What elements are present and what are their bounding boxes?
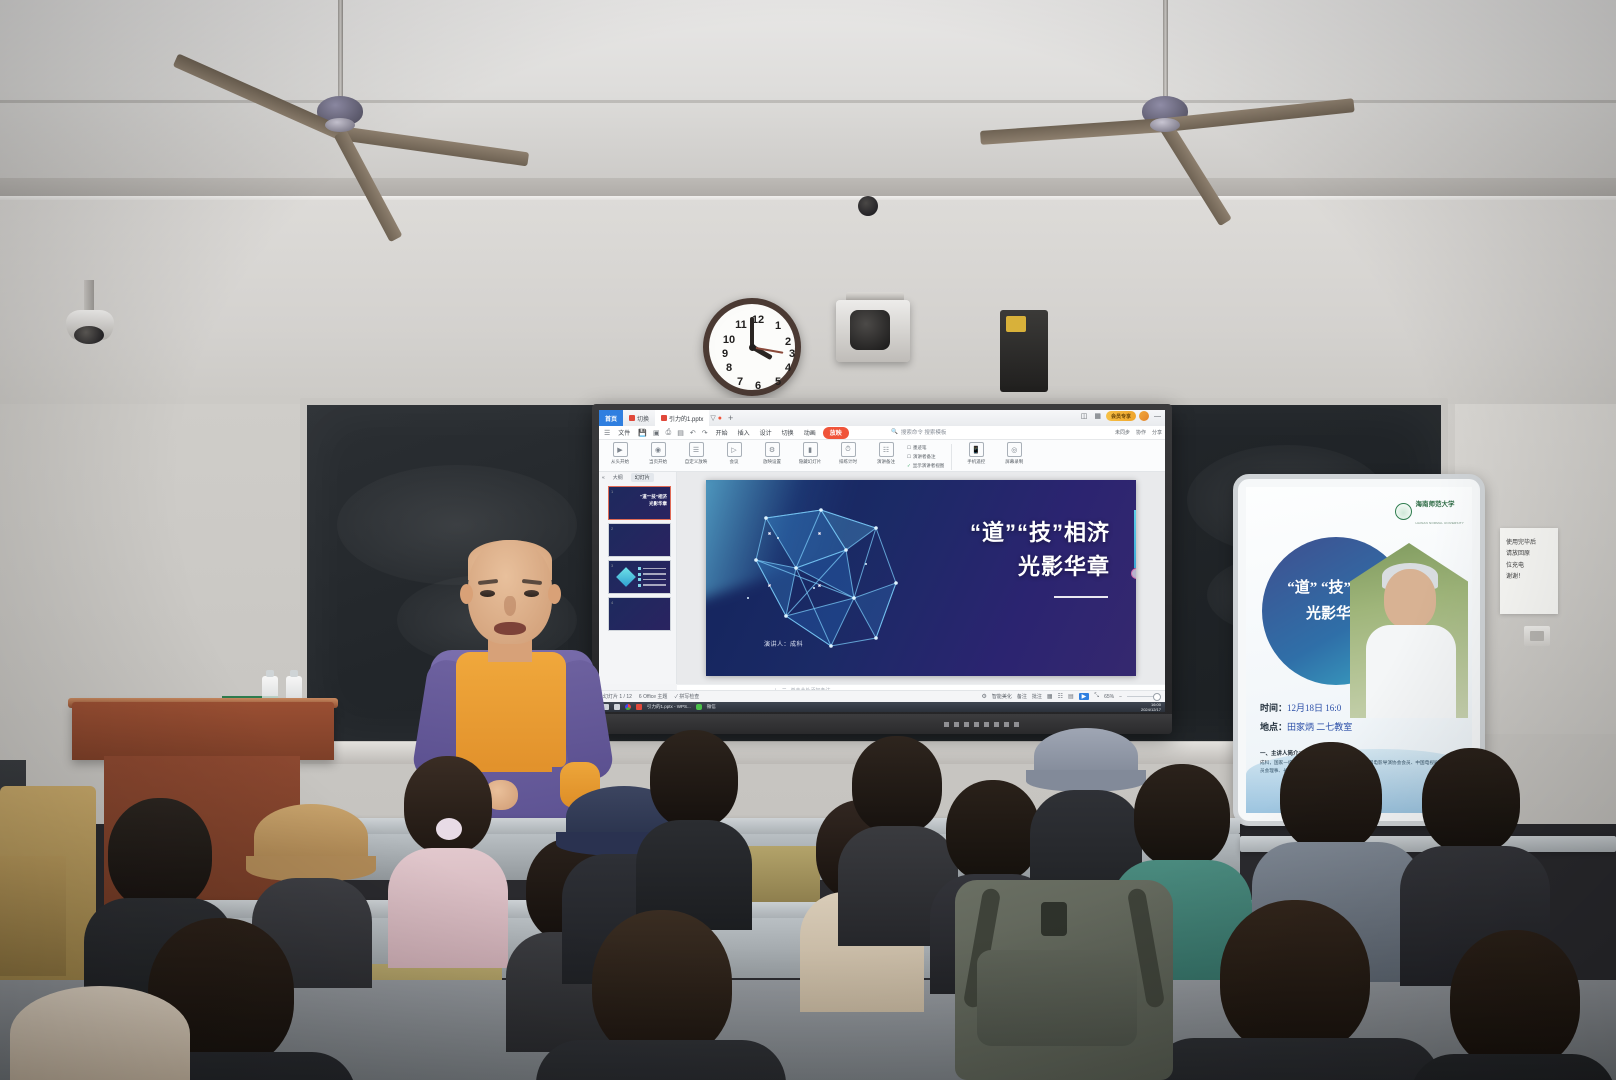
slide-accent-bar: [1134, 510, 1136, 568]
ribbon-check-label: 演讲者备注: [913, 454, 936, 460]
thumbnail-number: 2: [611, 526, 613, 531]
ceiling-fan-right: [1105, 0, 1225, 140]
ribbon-separator: [951, 444, 952, 470]
presenter-nose: [504, 596, 516, 616]
clock-center-pin: [749, 344, 756, 351]
rail-tab-outline[interactable]: 大纲: [609, 473, 627, 482]
notice-line: 谢谢！: [1506, 572, 1553, 583]
collaborate-button[interactable]: 协作: [1136, 429, 1146, 436]
tab-home-label: 首页: [605, 414, 617, 423]
screen-record-icon: ◎: [1007, 442, 1022, 457]
ribbon-label: 放映设置: [763, 459, 781, 465]
thumbnail-title: “道”“技”相济 光影华章: [640, 494, 667, 508]
interactive-display-panel[interactable]: 首页 切换 引力的1.pptx ▽ ● + ◫ ▦ 会员专享: [592, 404, 1172, 734]
ceiling-fan-left: [280, 0, 400, 140]
ribbon-checkboxes[interactable]: ☐ 墨迹笔 ☐ 演讲者备注 ✓ 显示演讲者视图: [907, 442, 944, 469]
presenter-mouth: [494, 622, 526, 635]
spellcheck-text: 拼写检查: [679, 694, 699, 700]
tab-home[interactable]: 首页: [599, 410, 623, 426]
checkbox-checked-icon: ✓: [907, 463, 911, 469]
rail-header[interactable]: « 大纲 幻灯片: [599, 472, 676, 483]
audience-head: [1280, 742, 1382, 852]
audience-member: [1410, 930, 1616, 1080]
audience-member: [0, 980, 220, 1080]
projector-icon: [836, 300, 910, 362]
hamburger-icon[interactable]: ☰: [603, 429, 611, 437]
poster-place-value: 田家炳 二七教室: [1287, 722, 1352, 732]
notice-line: 位充电: [1506, 561, 1553, 572]
screen[interactable]: 首页 切换 引力的1.pptx ▽ ● + ◫ ▦ 会员专享: [599, 410, 1165, 712]
current-slide[interactable]: “道”“技”相济 光影华章 演讲人：成科: [706, 480, 1136, 676]
slide-title-line1: “道”“技”相济: [970, 520, 1110, 545]
selection-handle[interactable]: [768, 584, 771, 587]
ai-beautify-label[interactable]: 智能美化: [992, 693, 1012, 700]
taskbar-date: 2024/12/17: [1141, 707, 1161, 712]
thumbnail-slide-1[interactable]: 1 “道”“技”相济 光影华章: [608, 486, 671, 520]
audience-head: [852, 736, 942, 834]
custom-show-icon: ☰: [689, 442, 704, 457]
ribbon-label: 屏幕录制: [1005, 459, 1023, 465]
lectern: [72, 702, 334, 760]
clock-numeral: 10: [722, 334, 736, 346]
sync-status[interactable]: 未同步: [1115, 429, 1130, 436]
wps-ribbon[interactable]: ▶ 从头开始 ◉ 当页开始 ☰ 自定义放映 ▷ 会议 ⚙ 放映设置: [599, 440, 1165, 472]
status-bar[interactable]: 幻灯片 1 / 12 6 Office 主题 ✓ 拼写检查 ⚙ 智能美化 备注 …: [599, 690, 1165, 702]
audience-body: [536, 1040, 786, 1080]
upper-wall: [0, 200, 1616, 410]
taskbar-wechat-label[interactable]: 微信: [707, 704, 716, 710]
ribbon-screen-record[interactable]: ◎ 屏幕录制: [997, 442, 1031, 465]
menu-animation[interactable]: 动画: [801, 428, 819, 437]
bucket-hat: [10, 986, 190, 1080]
ribbon-label: 排练计时: [839, 459, 857, 465]
normal-view-icon[interactable]: ▦: [1047, 693, 1053, 700]
slide-title-underline: [1054, 596, 1108, 598]
checkbox-icon: ☐: [907, 445, 911, 451]
clock-face: 12 1 2 3 4 5 6 7 8 9 10 11: [715, 310, 789, 384]
clock-numeral: 8: [722, 362, 736, 374]
vip-badge[interactable]: 会员专享: [1106, 411, 1136, 421]
sorter-view-icon[interactable]: ☷: [1058, 693, 1063, 700]
selection-handle[interactable]: [818, 532, 821, 535]
ribbon-label: 手机遥控: [967, 459, 985, 465]
minimize-button[interactable]: —: [1152, 413, 1163, 420]
menu-file[interactable]: 文件: [615, 428, 633, 437]
audience-head: [1220, 900, 1370, 1056]
zoom-out-button[interactable]: −: [1119, 694, 1122, 700]
wall-notice: 使用完毕后 请放回原 位充电 谢谢！: [1500, 528, 1558, 614]
audience-member: [386, 756, 510, 906]
audience-head: [650, 730, 738, 828]
portrait-head: [1384, 569, 1436, 629]
rail-tab-slides[interactable]: 幻灯片: [631, 473, 654, 482]
wall-clock: 12 1 2 3 4 5 6 7 8 9 10 11: [703, 298, 801, 396]
fan-hub: [325, 118, 355, 132]
ribbon-check-presenter-view[interactable]: ✓ 显示演讲者视图: [907, 463, 944, 469]
ribbon-play-from-start[interactable]: ▶ 从头开始: [603, 442, 637, 465]
fan-rod: [338, 0, 343, 100]
ribbon-label: 当页开始: [649, 459, 667, 465]
reading-view-icon[interactable]: ▤: [1068, 693, 1074, 700]
fit-slide-icon[interactable]: ⤡: [1094, 693, 1099, 700]
backpack: [955, 880, 1173, 1080]
clock-numeral: 9: [718, 348, 732, 360]
audience-head: [1422, 748, 1520, 854]
tab-document-1[interactable]: 切换: [623, 410, 655, 426]
university-name: 海南师范大学: [1415, 501, 1454, 508]
chrome-icon[interactable]: [625, 704, 631, 710]
taskbar-clock[interactable]: 16:00 2024/12/17: [1141, 702, 1161, 712]
university-name-en: HAINAN NORMAL UNIVERSITY: [1415, 521, 1464, 525]
network-polygon-graphic: [726, 498, 936, 663]
backpack-logo-patch: [1041, 902, 1067, 936]
theme-label[interactable]: 6 Office 主题: [639, 693, 668, 700]
undo-icon[interactable]: ↶: [689, 429, 697, 437]
portrait-body: [1366, 625, 1456, 718]
search-input[interactable]: 🔍 搜索命令 搜索模板: [891, 428, 946, 436]
audience-body: [1150, 1038, 1440, 1080]
poster-time-label: 时间：: [1260, 703, 1287, 713]
notes-icon: ☷: [879, 442, 894, 457]
redo-icon[interactable]: ↷: [701, 429, 709, 437]
university-logo-mark: [1395, 503, 1412, 520]
ceiling-microphone-icon: [858, 196, 878, 216]
poster-time-value: 12月18日 16:0: [1287, 703, 1341, 713]
clock-body: 12 1 2 3 4 5 6 7 8 9 10 11: [703, 298, 801, 396]
menu-design[interactable]: 设计: [757, 428, 775, 437]
audience-body: [1410, 1054, 1616, 1080]
presenter-ear: [460, 584, 473, 604]
selection-handle[interactable]: [768, 532, 771, 535]
university-logo: 海南师范大学 HAINAN NORMAL UNIVERSITY: [1395, 493, 1464, 529]
ceiling-seam: [0, 100, 1616, 103]
thumbnail-title-line1: “道”“技”相济: [640, 494, 667, 499]
ai-beautify-icon[interactable]: ⚙: [981, 693, 986, 700]
tab-document-1-label: 切换: [637, 414, 649, 423]
slide-editing-area[interactable]: “道”“技”相济 光影华章 演讲人：成科: [677, 472, 1165, 684]
clock-numeral: 6: [751, 380, 765, 392]
clock-numeral: 5: [771, 376, 785, 388]
wps-icon[interactable]: [636, 704, 642, 710]
camera-mount: [84, 280, 94, 314]
print-icon[interactable]: ⎙: [665, 429, 673, 437]
slide-presenter-label[interactable]: 演讲人：成科: [764, 639, 803, 648]
search-placeholder: 搜索命令 搜索模板: [901, 428, 947, 436]
menu-transition[interactable]: 切换: [779, 428, 797, 437]
clock-numeral: 11: [734, 319, 748, 331]
phone-remote-icon: 📱: [969, 442, 984, 457]
audience-head: [108, 798, 212, 910]
slideshow-icon[interactable]: ▶: [1079, 693, 1090, 700]
windows-taskbar[interactable]: 引力的1.pptx - WPS... 微信 16:00 2024/12/17: [599, 702, 1165, 712]
save-icon[interactable]: 💾: [637, 429, 648, 437]
poster-event-details: 时间：12月18日 16:0 地点：田家炳 二七教室: [1260, 699, 1352, 737]
security-camera-icon: [66, 310, 114, 340]
menu-slideshow-active[interactable]: 放映: [823, 427, 849, 439]
audience-member: [1150, 900, 1440, 1080]
window-controls[interactable]: ◫ ▦ 会员专享 —: [1079, 411, 1163, 421]
tab-document-active-label: 引力的1.pptx: [669, 414, 703, 423]
avatar[interactable]: [1139, 411, 1149, 421]
comments-toggle[interactable]: 批注: [1032, 693, 1042, 700]
hair-tie: [436, 818, 462, 840]
presenter-eye: [524, 590, 539, 597]
ribbon-label: 演讲备注: [877, 459, 895, 465]
audience-head: [592, 910, 732, 1060]
ribbon-show-settings[interactable]: ⚙ 放映设置: [755, 442, 789, 465]
spellcheck-label[interactable]: ✓ 拼写检查: [674, 693, 699, 700]
audience-member: [536, 910, 786, 1080]
wps-tab-bar[interactable]: 首页 切换 引力的1.pptx ▽ ● + ◫ ▦ 会员专享: [599, 410, 1165, 426]
presenter-shirt: [456, 652, 566, 767]
taskbar-wps-label[interactable]: 引力的1.pptx - WPS...: [647, 704, 691, 710]
ribbon-hide-slide[interactable]: ▮ 隐藏幻灯片: [793, 442, 827, 465]
rehearse-icon: ⏱: [841, 442, 856, 457]
poster-place-label: 地点：: [1260, 722, 1287, 732]
ribbon-play-current[interactable]: ◉ 当页开始: [641, 442, 675, 465]
tab-cloud-icon[interactable]: ▽: [709, 414, 716, 422]
clock-numeral: 2: [781, 336, 795, 348]
thumbnail-number: 1: [611, 489, 613, 494]
presenter-ear: [548, 584, 561, 604]
apps-grid-icon[interactable]: ▦: [1092, 412, 1103, 420]
ribbon-phone-remote[interactable]: 📱 手机遥控: [959, 442, 993, 465]
hide-slide-icon: ▮: [803, 442, 818, 457]
ribbon-label: 从头开始: [611, 459, 629, 465]
backpack-pocket: [977, 950, 1137, 1046]
zoom-slider[interactable]: [1127, 696, 1161, 698]
slide-title[interactable]: “道”“技”相济 光影华章: [970, 516, 1110, 584]
slide-title-line2: 光影华章: [1018, 554, 1110, 579]
fan-hub: [1150, 118, 1180, 132]
menu-start[interactable]: 开始: [713, 428, 731, 437]
ribbon-rehearse[interactable]: ⏱ 排练计时: [831, 442, 865, 465]
show-settings-icon: ⚙: [765, 442, 780, 457]
notice-line: 使用完毕后: [1506, 538, 1553, 549]
ribbon-check-pen[interactable]: ☐ 墨迹笔: [907, 445, 944, 451]
clock-numeral: 7: [733, 376, 747, 388]
chevron-left-icon[interactable]: «: [602, 475, 605, 481]
ribbon-notes[interactable]: ☷ 演讲备注: [869, 442, 903, 465]
light-switch-plate[interactable]: [1524, 626, 1550, 646]
ribbon-check-label: 显示演讲者视图: [913, 463, 945, 469]
clock-numeral: 3: [785, 348, 799, 360]
ribbon-label: 隐藏幻灯片: [799, 459, 822, 465]
pptx-file-icon: [629, 415, 635, 421]
ribbon-meeting[interactable]: ▷ 会议: [717, 442, 751, 465]
wps-menu-bar[interactable]: ☰ 文件 💾 ▣ ⎙ ▤ ↶ ↷ 开始 插入 设计 切换 动画 放映 🔍 搜索命…: [599, 426, 1165, 440]
tab-document-active[interactable]: 引力的1.pptx: [655, 410, 709, 426]
ribbon-check-presenter-notes[interactable]: ☐ 演讲者备注: [907, 454, 944, 460]
print-preview-icon[interactable]: ▤: [676, 429, 685, 437]
selection-rotate-handle[interactable]: [1131, 568, 1136, 579]
pptx-file-icon: [661, 415, 667, 421]
checkbox-icon: ☐: [907, 454, 911, 460]
save-as-icon[interactable]: ▣: [652, 429, 661, 437]
status-right-group[interactable]: ⚙ 智能美化 备注 批注 ▦ ☷ ▤ ▶ ⤡ 65% −: [981, 693, 1161, 700]
ribbon-check-label: 墨迹笔: [913, 445, 927, 451]
notice-line: 请放回原: [1506, 549, 1553, 560]
ribbon-label: 自定义放映: [685, 459, 708, 465]
play-current-icon: ◉: [651, 442, 666, 457]
clock-numeral: 1: [771, 320, 785, 332]
university-logo-text: 海南师范大学 HAINAN NORMAL UNIVERSITY: [1415, 493, 1464, 529]
wechat-icon[interactable]: [696, 704, 702, 710]
presenter-eye: [480, 590, 495, 597]
side-chair-lower: [0, 856, 66, 976]
clock-minute-hand: [750, 317, 754, 347]
audience-member: [636, 730, 752, 890]
meeting-icon: ▷: [727, 442, 742, 457]
thumbnail-title-line2: 光影华章: [649, 501, 667, 506]
play-from-start-icon: ▶: [613, 442, 628, 457]
wall-speaker-icon: [1000, 310, 1048, 392]
selection-handle[interactable]: [818, 584, 821, 587]
clock-numeral: 4: [781, 362, 795, 374]
spellcheck-icon: ✓: [674, 694, 677, 700]
new-tab-button[interactable]: +: [723, 413, 738, 423]
audience-body: [388, 848, 508, 968]
ribbon-custom-show[interactable]: ☰ 自定义放映: [679, 442, 713, 465]
menu-insert[interactable]: 插入: [735, 428, 753, 437]
audience-head: [1134, 764, 1230, 868]
classroom-scene: 12 1 2 3 4 5 6 7 8 9 10 11: [0, 0, 1616, 1080]
zoom-level[interactable]: 65%: [1104, 694, 1114, 700]
thumbnail-bullets: [638, 567, 666, 589]
search-icon: 🔍: [891, 429, 898, 435]
share-button[interactable]: 分享: [1152, 429, 1162, 436]
panel-speaker-grille: [944, 722, 1024, 727]
menu-far-actions[interactable]: 未同步 协作 分享: [1115, 429, 1162, 436]
notes-toggle[interactable]: 备注: [1017, 693, 1027, 700]
audience-head: [1450, 930, 1580, 1070]
split-view-icon[interactable]: ◫: [1079, 412, 1090, 420]
fan-rod: [1163, 0, 1168, 100]
ribbon-label: 会议: [730, 459, 739, 465]
